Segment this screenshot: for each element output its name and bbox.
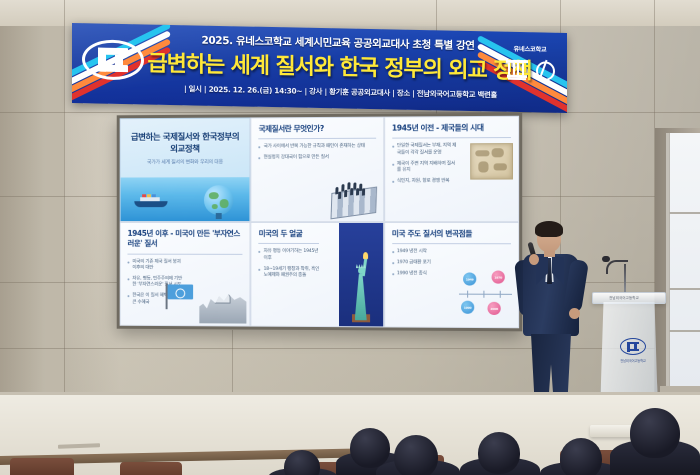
slide-5-bullet-2: 18~19세기 팽창과 착취, 흑인 노예제와 패권주의 충돌 — [259, 266, 320, 279]
old-world-map-icon — [470, 143, 513, 180]
slide-before-1945: 1945년 이전 - 제국들의 시대 단일한 국제질서는 부재, 지역 제국들이… — [384, 116, 519, 222]
slide-5-rule — [259, 243, 320, 244]
slide-4-title: 1945년 이후 - 미국이 만든 '부자연스러운' 질서 — [127, 229, 242, 249]
seat-back — [120, 462, 182, 475]
wall-seam-h4 — [0, 348, 700, 349]
unesco-aspnet-logo-icon — [534, 58, 554, 82]
window-pane — [668, 133, 700, 389]
slide-3-bullet-3: 식민지, 자원, 항로 경쟁 반복 — [392, 179, 458, 186]
slide-4-rule — [127, 253, 242, 254]
slide-cover: 급변하는 국제질서와 한국정부의 외교정책 국가가 세계 질서의 변화와 우리의… — [120, 117, 251, 222]
ceiling-soffit — [0, 0, 700, 26]
presenter — [517, 224, 587, 410]
timeline-node-3: 1990 — [461, 301, 474, 314]
audience-head — [560, 438, 602, 475]
podium-name-plate: 전남외국어고등학교 — [613, 358, 653, 363]
slide-2-rule — [259, 138, 376, 140]
timeline-node-4: 2008 — [487, 302, 500, 315]
audience-head — [630, 408, 680, 458]
gooseneck-mic-stand — [624, 264, 626, 294]
slide-6-bullet-3: 1990 냉전 종식 — [392, 271, 445, 278]
audience-head — [478, 432, 520, 474]
slide-6-bullet-2: 1970 금태환 포기 — [392, 260, 445, 267]
audience-head — [394, 435, 438, 475]
audience-head — [350, 428, 390, 468]
slide-3-rule — [392, 137, 511, 139]
statue-of-liberty-icon — [349, 248, 373, 320]
window-mullion-1 — [668, 212, 700, 214]
slide-inflection: 미국 주도 질서의 변곡점들 1949 냉전 시작 1970 금태환 포기 19… — [384, 222, 519, 328]
cargo-ship-icon — [134, 195, 167, 207]
seat-back — [10, 458, 74, 475]
timeline-node-2: 1970 — [492, 271, 505, 284]
ruins-icon — [199, 290, 246, 324]
slide-what-is-order: 국제질서란 무엇인가? 국가 사이에서 반복 가능한 규칙과 패턴이 존재하는 … — [251, 117, 384, 222]
slide-3-title: 1945년 이전 - 제국들의 시대 — [392, 123, 511, 134]
stage-edge — [0, 392, 700, 395]
unesco-logo-area: 유네스코학교 — [499, 44, 561, 101]
podium-top-text: 전남외국어고등학교 — [597, 296, 651, 300]
window-mullion-3 — [668, 330, 700, 332]
slide-3-bullet-1: 단일한 국제질서는 부재, 지역 제국들이 각각 질서를 운영 — [392, 144, 458, 158]
slide-6-title: 미국 주도 질서의 변곡점들 — [392, 229, 511, 239]
timeline-icon: 1949 1970 1990 2008 — [457, 270, 514, 317]
slide-2-title: 국제질서란 무엇인가? — [259, 124, 376, 135]
audience-head — [284, 450, 320, 475]
window-mullion-2 — [668, 288, 700, 290]
slide-5-bullets: 자유 평등 이야기하는 1945년 이후 18~19세기 팽창과 착취, 흑인 … — [259, 249, 320, 280]
presenter-hair — [535, 221, 563, 237]
projection-screen-frame: 급변하는 국제질서와 한국정부의 외교정책 국가가 세계 질서의 변화와 우리의… — [117, 113, 522, 332]
slide-5-bullet-1: 자유 평등 이야기하는 1945년 이후 — [259, 249, 320, 262]
event-banner: 2025. 유네스코학교 세계시민교육 공공외교대사 초청 특별 강연 급변하는… — [72, 23, 567, 113]
window-frame — [666, 133, 669, 389]
un-flag-icon — [166, 283, 195, 309]
slide-2-bullets: 국가 사이에서 반복 가능한 규칙과 패턴이 존재하는 상태 현실정치 강대국이… — [259, 144, 376, 162]
slide-6-bullets: 1949 냉전 시작 1970 금태환 포기 1990 냉전 종식 — [392, 249, 445, 277]
lecture-scene: 2025. 유네스코학교 세계시민교육 공공외교대사 초청 특별 강연 급변하는… — [0, 0, 700, 475]
slide-2-bullet-1: 국가 사이에서 반복 가능한 규칙과 패턴이 존재하는 상태 — [259, 144, 376, 151]
slide-cover-subtitle: 국가가 세계 질서의 변화와 우리의 대응 — [121, 158, 250, 165]
slide-after-1945: 1945년 이후 - 미국이 만든 '부자연스러운' 질서 미국의 기존 제국 … — [120, 222, 251, 327]
slide-3-bullets: 단일한 국제질서는 부재, 지역 제국들이 각각 질서를 운영 제국이 주변 지… — [392, 144, 458, 186]
slide-grid: 급변하는 국제질서와 한국정부의 외교정책 국가가 세계 질서의 변화와 우리의… — [120, 116, 519, 329]
slide-cover-title: 급변하는 국제질서와 한국정부의 외교정책 — [121, 118, 250, 156]
gooseneck-mic-head-icon — [602, 256, 610, 262]
slide-6-bullet-1: 1949 냉전 시작 — [392, 249, 445, 256]
presenter-left-hand — [529, 254, 539, 265]
timeline-node-1: 1949 — [463, 272, 476, 285]
unesco-temple-logo-icon — [506, 58, 528, 82]
slide-4-bullet-1: 미국의 기존 제국 질서 붕괴 이후의 대안 — [127, 259, 182, 272]
presenter-right-hand — [569, 308, 580, 319]
projection-screen: 급변하는 국제질서와 한국정부의 외교정책 국가가 세계 질서의 변화와 우리의… — [120, 116, 519, 329]
slide-6-rule — [392, 243, 511, 244]
globe-icon — [204, 185, 234, 215]
slide-3-bullet-2: 제국이 주변 지역 지배하며 질서를 유지 — [392, 161, 458, 175]
audience — [0, 400, 700, 475]
slide-2-bullet-2: 현실정치 강대국이 힘으로 만든 질서 — [259, 155, 376, 162]
slide-two-faces: 미국의 두 얼굴 자유 평등 이야기하는 1945년 이후 18~19세기 팽창… — [251, 222, 384, 327]
chessboard-icon — [326, 172, 379, 220]
podium-school-emblem-icon — [620, 338, 646, 355]
cover-sea-art — [121, 177, 250, 221]
unesco-label: 유네스코학교 — [499, 44, 561, 54]
